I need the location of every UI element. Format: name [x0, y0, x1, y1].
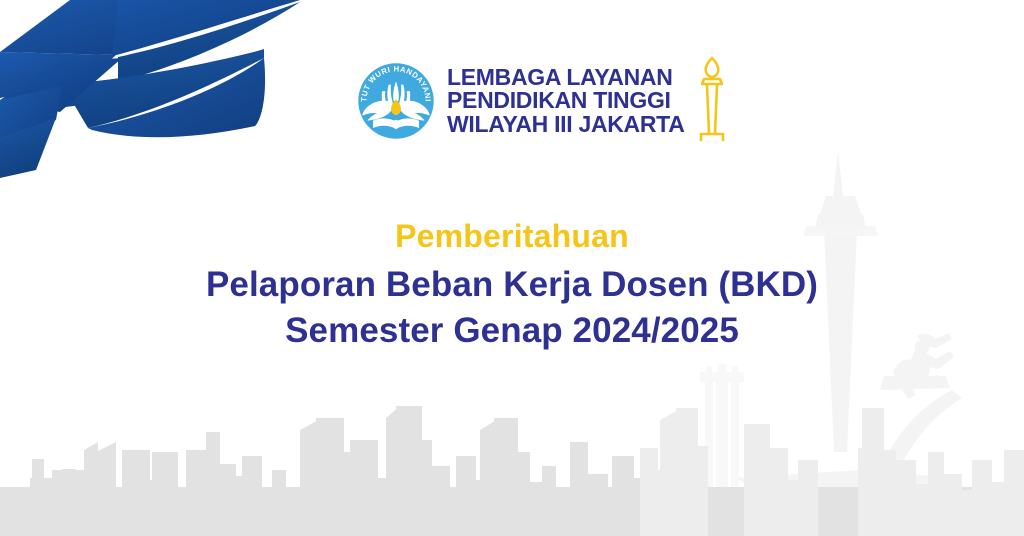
institution-logo-lockup: TUT WURI HANDAYANI [355, 52, 733, 150]
headline-kicker: Pemberitahuan [0, 216, 1024, 258]
monas-outline-icon [691, 54, 733, 150]
content-layer: TUT WURI HANDAYANI [0, 0, 1024, 536]
announcement-banner: TUT WURI HANDAYANI [0, 0, 1024, 536]
institution-wordmark: LEMBAGA LAYANAN PENDIDIKAN TINGGI WILAYA… [447, 66, 685, 136]
headline-block: Pemberitahuan Pelaporan Beban Kerja Dose… [0, 216, 1024, 354]
wordmark-line-2: PENDIDIKAN TINGGI [447, 89, 685, 112]
headline-line-1: Pelaporan Beban Kerja Dosen (BKD) [0, 262, 1024, 308]
wordmark-line-3: WILAYAH III JAKARTA [447, 113, 685, 136]
wordmark-line-1: LEMBAGA LAYANAN [447, 66, 685, 89]
headline-line-2: Semester Genap 2024/2025 [0, 308, 1024, 354]
tut-wuri-handayani-emblem: TUT WURI HANDAYANI [355, 60, 437, 142]
